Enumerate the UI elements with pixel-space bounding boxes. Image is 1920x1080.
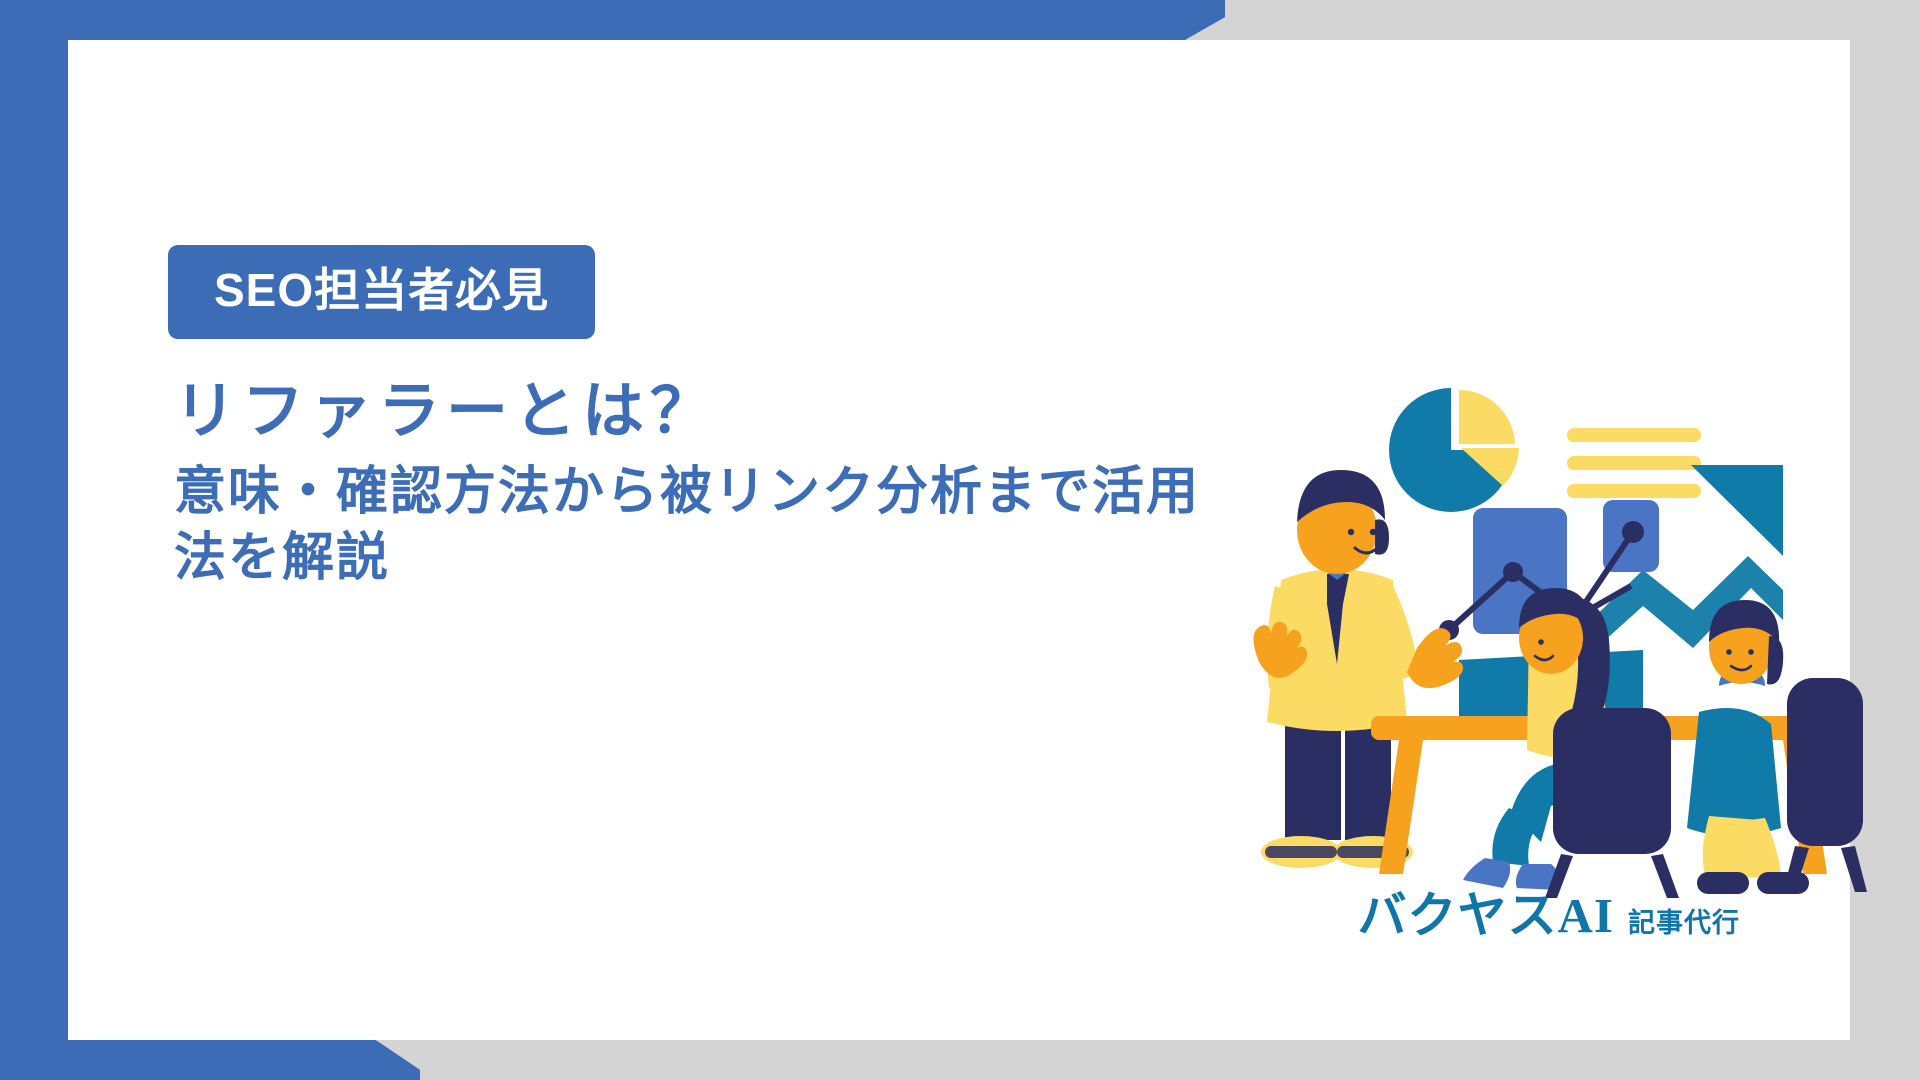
frame-top-bar (0, 0, 1225, 40)
brand-logo-sub: 記事代行 (1628, 910, 1740, 937)
brand-logo-main: バクヤスAI (1358, 891, 1614, 940)
hero-illustration (1223, 360, 1883, 900)
text-column: SEO担当者必見 リファラーとは？ 意味・確認方法から被リンク分析まで活用法を解… (168, 245, 1228, 592)
chair-back (1783, 678, 1867, 892)
page-title: リファラーとは？ (174, 373, 1228, 451)
category-badge: SEO担当者必見 (168, 245, 595, 339)
brand-logo: バクヤスAI 記事代行 (1358, 891, 1740, 940)
content-card: SEO担当者必見 リファラーとは？ 意味・確認方法から被リンク分析まで活用法を解… (68, 40, 1850, 1040)
frame-left-bar (0, 0, 68, 1040)
chair-front (1545, 708, 1679, 898)
standing-presenter (1253, 470, 1463, 868)
pie-chart-icon (1389, 388, 1519, 512)
text-lines-icon (1567, 428, 1701, 498)
illustration-svg (1223, 360, 1883, 900)
page-subtitle: 意味・確認方法から被リンク分析まで活用法を解説 (174, 459, 1224, 592)
